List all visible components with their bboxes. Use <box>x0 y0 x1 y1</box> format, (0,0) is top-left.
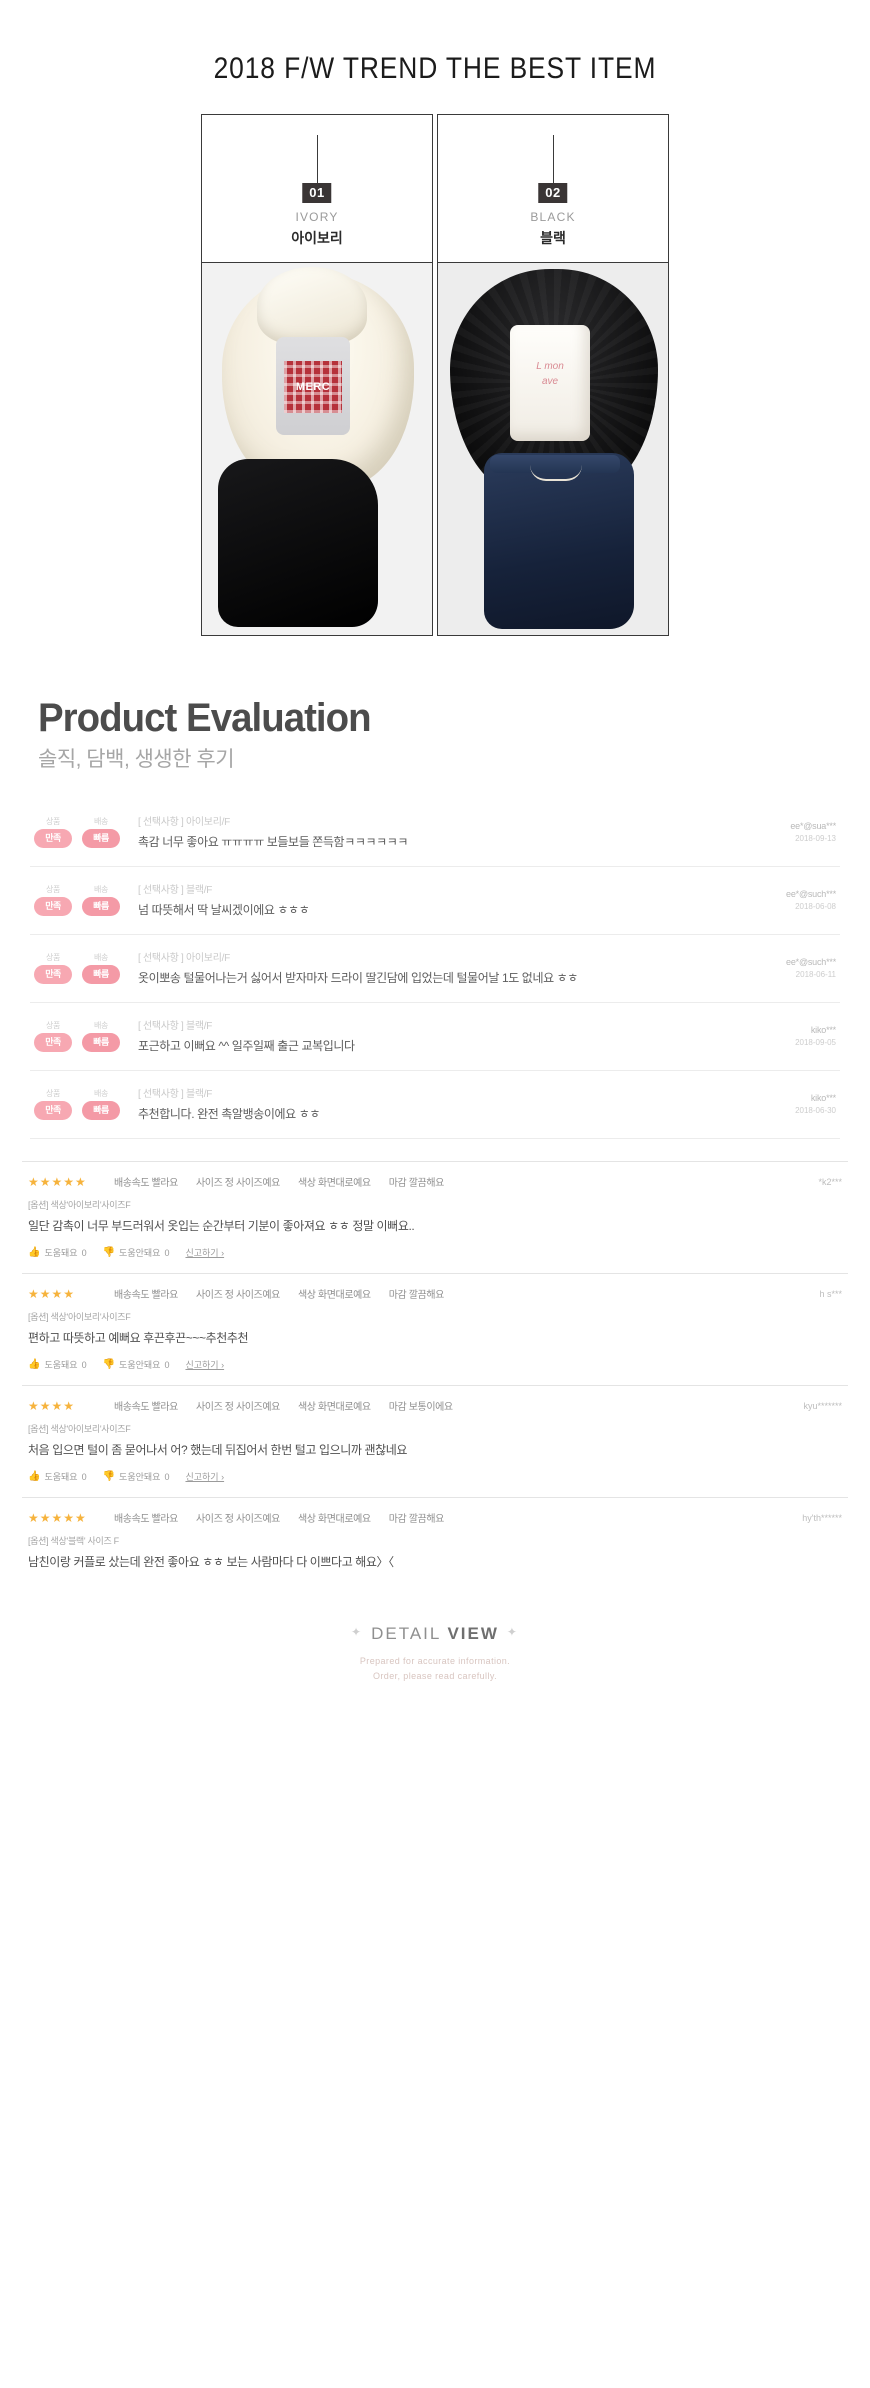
review-header: ★★★★ 배송속도 빨라요 사이즈 정 사이즈예요 색상 화면대로예요 마감 보… <box>28 1398 842 1413</box>
helpful-button[interactable]: 👍 도움돼요 0 <box>28 1246 87 1259</box>
swatch-name-ko: 블랙 <box>438 228 668 248</box>
swatch-header-ivory: 01 IVORY 아이보리 <box>202 115 432 263</box>
simple-review-list: 상품 만족 배송 빠름 [ 선택사항 ] 아이보리/F 촉감 너무 좋아요 ㅠㅠ… <box>30 799 840 1139</box>
score-product: 상품 만족 <box>34 816 72 848</box>
status-badge: 만족 <box>34 897 72 916</box>
review-author: ee*@such*** <box>726 957 836 967</box>
review-actions: 👍 도움돼요 0 👎 도움안돼요 0 신고하기 › <box>28 1358 842 1379</box>
score-product: 상품 만족 <box>34 1020 72 1052</box>
helpful-button[interactable]: 👍 도움돼요 0 <box>28 1358 87 1371</box>
review-tag: 마감 깔끔해요 <box>389 1510 444 1525</box>
review-header: ★★★★★ 배송속도 빨라요 사이즈 정 사이즈예요 색상 화면대로예요 마감 … <box>28 1510 842 1525</box>
review-body: [ 선택사항 ] 아이보리/F 촉감 너무 좋아요 ㅠㅠㅠㅠ 보들보들 쫀득함ㅋ… <box>126 813 726 850</box>
score-caption: 상품 <box>34 816 72 827</box>
review-header: ★★★★ 배송속도 빨라요 사이즈 정 사이즈예요 색상 화면대로예요 마감 깔… <box>28 1286 842 1301</box>
detail-view-subtitle: Prepared for accurate information. Order… <box>0 1654 870 1685</box>
plaid-text: MERC <box>284 381 342 393</box>
score-caption: 상품 <box>34 1088 72 1099</box>
review-author: ee*@such*** <box>726 889 836 899</box>
drawstring-icon <box>530 465 582 481</box>
status-badge: 만족 <box>34 1033 72 1052</box>
review-tag: 배송속도 빨라요 <box>114 1398 178 1413</box>
not-helpful-button[interactable]: 👎 도움안돼요 0 <box>103 1358 170 1371</box>
score-group: 상품 만족 배송 빠름 <box>34 884 126 916</box>
review-option: [옵션] 색상'블랙' 사이즈 F <box>28 1534 842 1547</box>
review-author: kiko*** <box>726 1093 836 1103</box>
score-delivery: 배송 빠름 <box>82 1020 120 1052</box>
not-helpful-label: 도움안돼요 <box>119 1246 160 1259</box>
sparkle-icon-left: ✦ <box>343 1625 371 1639</box>
list-item[interactable]: 상품 만족 배송 빠름 [ 선택사항 ] 아이보리/F 옷이뽀송 털물어나는거 … <box>30 935 840 1003</box>
thumbs-down-icon: 👎 <box>103 1247 115 1258</box>
review-author-block: kiko*** 2018-09-05 <box>726 1025 836 1047</box>
black-pants-shape <box>218 459 378 627</box>
score-group: 상품 만족 배송 빠름 <box>34 952 126 984</box>
tick-line-icon <box>317 135 318 183</box>
review-body: [ 선택사항 ] 블랙/F 넘 따뜻해서 딱 날씨겠이에요 ㅎㅎㅎ <box>126 881 726 918</box>
review-text: 옷이뽀송 털물어나는거 싫어서 받자마자 드라이 딸긴담에 입었는데 털물어날 … <box>138 969 726 986</box>
star-rating: ★★★★ <box>28 1287 100 1301</box>
review-tag: 사이즈 정 사이즈예요 <box>196 1286 280 1301</box>
review-body: [ 선택사항 ] 블랙/F 추천합니다. 완전 촉알뱅송이에요 ㅎㅎ <box>126 1085 726 1122</box>
evaluation-subtitle: 솔직, 담백, 생생한 후기 <box>38 743 870 773</box>
tick-line-icon <box>553 135 554 183</box>
review-text: 남친이랑 커플로 샀는데 완전 좋아요 ㅎㅎ 보는 사람마다 다 이쁘다고 해요… <box>28 1553 842 1570</box>
review-tag: 색상 화면대로예요 <box>298 1174 371 1189</box>
report-link[interactable]: 신고하기 › <box>185 1470 224 1483</box>
helpful-button[interactable]: 👍 도움돼요 0 <box>28 1470 87 1483</box>
table-row[interactable]: ★★★★★ 배송속도 빨라요 사이즈 정 사이즈예요 색상 화면대로예요 마감 … <box>22 1161 848 1273</box>
swatch-number-badge: 01 <box>302 183 331 203</box>
table-row[interactable]: ★★★★ 배송속도 빨라요 사이즈 정 사이즈예요 색상 화면대로예요 마감 깔… <box>22 1273 848 1385</box>
score-product: 상품 만족 <box>34 952 72 984</box>
review-date: 2018-09-05 <box>726 1038 836 1047</box>
helpful-label: 도움돼요 <box>44 1246 77 1259</box>
score-caption: 상품 <box>34 884 72 895</box>
helpful-count: 0 <box>82 1472 87 1482</box>
table-row[interactable]: ★★★★ 배송속도 빨라요 사이즈 정 사이즈예요 색상 화면대로예요 마감 보… <box>22 1385 848 1497</box>
detailed-review-list: ★★★★★ 배송속도 빨라요 사이즈 정 사이즈예요 색상 화면대로예요 마감 … <box>22 1161 848 1576</box>
review-tag-group: 배송속도 빨라요 사이즈 정 사이즈예요 색상 화면대로예요 마감 깔끔해요 <box>100 1174 712 1189</box>
review-date: 2018-06-30 <box>726 1106 836 1115</box>
review-header: ★★★★★ 배송속도 빨라요 사이즈 정 사이즈예요 색상 화면대로예요 마감 … <box>28 1174 842 1189</box>
not-helpful-count: 0 <box>164 1248 169 1258</box>
score-product: 상품 만족 <box>34 1088 72 1120</box>
review-date: 2018-09-13 <box>726 834 836 843</box>
hero-section: 2018 F/W TREND THE BEST ITEM 01 IVORY 아이… <box>0 0 870 636</box>
review-text: 추천합니다. 완전 촉알뱅송이에요 ㅎㅎ <box>138 1105 726 1122</box>
score-caption: 상품 <box>34 1020 72 1031</box>
list-item[interactable]: 상품 만족 배송 빠름 [ 선택사항 ] 아이보리/F 촉감 너무 좋아요 ㅠㅠ… <box>30 799 840 867</box>
review-author: h s*** <box>712 1289 842 1299</box>
not-helpful-count: 0 <box>164 1360 169 1370</box>
score-caption: 상품 <box>34 952 72 963</box>
review-tag: 마감 보통이에요 <box>389 1398 453 1413</box>
score-caption: 배송 <box>82 816 120 827</box>
thumbs-up-icon: 👍 <box>28 1471 40 1482</box>
review-tag: 색상 화면대로예요 <box>298 1510 371 1525</box>
review-option: [ 선택사항 ] 블랙/F <box>138 881 726 896</box>
status-badge: 만족 <box>34 965 72 984</box>
review-option: [ 선택사항 ] 블랙/F <box>138 1017 726 1032</box>
review-tag-group: 배송속도 빨라요 사이즈 정 사이즈예요 색상 화면대로예요 마감 깔끔해요 <box>100 1286 712 1301</box>
thumbs-up-icon: 👍 <box>28 1359 40 1370</box>
review-author: ee*@sua*** <box>726 821 836 831</box>
score-delivery: 배송 빠름 <box>82 884 120 916</box>
evaluation-title: Product Evaluation <box>38 696 837 741</box>
helpful-count: 0 <box>82 1248 87 1258</box>
not-helpful-button[interactable]: 👎 도움안돼요 0 <box>103 1246 170 1259</box>
score-product: 상품 만족 <box>34 884 72 916</box>
white-tee-text: L monave <box>510 359 590 389</box>
review-option: [옵션] 색상'아이보리'사이즈F <box>28 1198 842 1211</box>
review-author-block: ee*@such*** 2018-06-08 <box>726 889 836 911</box>
review-tag: 배송속도 빨라요 <box>114 1510 178 1525</box>
page-title: 2018 F/W TREND THE BEST ITEM <box>52 52 818 114</box>
review-tag-group: 배송속도 빨라요 사이즈 정 사이즈예요 색상 화면대로예요 마감 깔끔해요 <box>100 1510 712 1525</box>
review-tag: 배송속도 빨라요 <box>114 1174 178 1189</box>
review-actions: 👍 도움돼요 0 👎 도움안돼요 0 신고하기 › <box>28 1246 842 1267</box>
not-helpful-button[interactable]: 👎 도움안돼요 0 <box>103 1470 170 1483</box>
review-author-block: ee*@sua*** 2018-09-13 <box>726 821 836 843</box>
score-group: 상품 만족 배송 빠름 <box>34 1088 126 1120</box>
detail-view-footer: ✦DETAIL VIEW✦ Prepared for accurate info… <box>0 1624 870 1731</box>
review-text: 포근하고 이뻐요 ^^ 일주일째 출근 교복입니다 <box>138 1037 726 1054</box>
thumbs-down-icon: 👎 <box>103 1359 115 1370</box>
review-author: *k2*** <box>712 1177 842 1187</box>
review-body: [ 선택사항 ] 아이보리/F 옷이뽀송 털물어나는거 싫어서 받자마자 드라이… <box>126 949 726 986</box>
review-text: 넘 따뜻해서 딱 날씨겠이에요 ㅎㅎㅎ <box>138 901 726 918</box>
product-photo-black: L monave <box>438 263 668 635</box>
review-tag: 사이즈 정 사이즈예요 <box>196 1398 280 1413</box>
report-link[interactable]: 신고하기 › <box>185 1358 224 1371</box>
score-caption: 배송 <box>82 1020 120 1031</box>
status-badge: 빠름 <box>82 1101 120 1120</box>
review-date: 2018-06-11 <box>726 970 836 979</box>
swatch-header-black: 02 BLACK 블랙 <box>438 115 668 263</box>
swatch-name-ko: 아이보리 <box>202 228 432 248</box>
detail-view-sub-line1: Prepared for accurate information. <box>360 1656 510 1666</box>
status-badge: 만족 <box>34 1101 72 1120</box>
swatch-card-ivory[interactable]: 01 IVORY 아이보리 MERC <box>201 114 433 636</box>
review-author: kyu******* <box>712 1401 842 1411</box>
review-author: kiko*** <box>726 1025 836 1035</box>
review-body: [ 선택사항 ] 블랙/F 포근하고 이뻐요 ^^ 일주일째 출근 교복입니다 <box>126 1017 726 1054</box>
status-badge: 만족 <box>34 829 72 848</box>
status-badge: 빠름 <box>82 965 120 984</box>
helpful-label: 도움돼요 <box>44 1358 77 1371</box>
swatch-name-en: BLACK <box>438 210 668 224</box>
detail-view-word-bold: VIEW <box>447 1624 498 1643</box>
score-delivery: 배송 빠름 <box>82 1088 120 1120</box>
review-tag: 사이즈 정 사이즈예요 <box>196 1174 280 1189</box>
evaluation-heading-section: Product Evaluation 솔직, 담백, 생생한 후기 <box>0 636 870 773</box>
color-swatch-row: 01 IVORY 아이보리 MERC 02 BLACK <box>0 114 870 636</box>
star-rating: ★★★★ <box>28 1399 100 1413</box>
sparkle-icon-right: ✦ <box>499 1625 527 1639</box>
list-item[interactable]: 상품 만족 배송 빠름 [ 선택사항 ] 블랙/F 추천합니다. 완전 촉알뱅송… <box>30 1071 840 1139</box>
review-date: 2018-06-08 <box>726 902 836 911</box>
review-author-block: ee*@such*** 2018-06-11 <box>726 957 836 979</box>
swatch-card-black[interactable]: 02 BLACK 블랙 L monave <box>437 114 669 636</box>
review-tag: 사이즈 정 사이즈예요 <box>196 1510 280 1525</box>
report-link[interactable]: 신고하기 › <box>185 1246 224 1259</box>
product-photo-ivory: MERC <box>202 263 432 635</box>
review-text: 일단 감촉이 너무 부드러워서 옷입는 순간부터 기분이 좋아져요 ㅎㅎ 정말 … <box>28 1217 842 1234</box>
review-tag: 색상 화면대로예요 <box>298 1286 371 1301</box>
swatch-number-badge: 02 <box>538 183 567 203</box>
review-author: hy'th****** <box>712 1513 842 1523</box>
helpful-count: 0 <box>82 1360 87 1370</box>
review-tag: 마감 깔끔해요 <box>389 1286 444 1301</box>
score-delivery: 배송 빠름 <box>82 952 120 984</box>
review-option: [옵션] 색상'아이보리'사이즈F <box>28 1422 842 1435</box>
review-tag: 색상 화면대로예요 <box>298 1398 371 1413</box>
score-caption: 배송 <box>82 1088 120 1099</box>
swatch-name-en: IVORY <box>202 210 432 224</box>
score-delivery: 배송 빠름 <box>82 816 120 848</box>
score-group: 상품 만족 배송 빠름 <box>34 816 126 848</box>
status-badge: 빠름 <box>82 1033 120 1052</box>
review-actions: 👍 도움돼요 0 👎 도움안돼요 0 신고하기 › <box>28 1470 842 1491</box>
status-badge: 빠름 <box>82 897 120 916</box>
review-tag: 마감 깔끔해요 <box>389 1174 444 1189</box>
status-badge: 빠름 <box>82 829 120 848</box>
product-detail-page: 2018 F/W TREND THE BEST ITEM 01 IVORY 아이… <box>0 0 870 1731</box>
score-group: 상품 만족 배송 빠름 <box>34 1020 126 1052</box>
review-option: [ 선택사항 ] 아이보리/F <box>138 813 726 828</box>
not-helpful-label: 도움안돼요 <box>119 1470 160 1483</box>
helpful-label: 도움돼요 <box>44 1470 77 1483</box>
review-option: [ 선택사항 ] 블랙/F <box>138 1085 726 1100</box>
review-text: 편하고 따뜻하고 예뻐요 후끈후끈~~~추천추천 <box>28 1329 842 1346</box>
score-caption: 배송 <box>82 884 120 895</box>
detail-view-word-light: DETAIL <box>371 1624 441 1643</box>
review-tag-group: 배송속도 빨라요 사이즈 정 사이즈예요 색상 화면대로예요 마감 보통이에요 <box>100 1398 712 1413</box>
thumbs-down-icon: 👎 <box>103 1471 115 1482</box>
review-tag: 배송속도 빨라요 <box>114 1286 178 1301</box>
not-helpful-label: 도움안돼요 <box>119 1358 160 1371</box>
review-text: 처음 입으면 털이 좀 묻어나서 어? 했는데 뒤집어서 한번 털고 입으니까 … <box>28 1441 842 1458</box>
ivory-hood-shape <box>257 267 367 345</box>
list-item[interactable]: 상품 만족 배송 빠름 [ 선택사항 ] 블랙/F 포근하고 이뻐요 ^^ 일주… <box>30 1003 840 1071</box>
thumbs-up-icon: 👍 <box>28 1247 40 1258</box>
review-text: 촉감 너무 좋아요 ㅠㅠㅠㅠ 보들보들 쫀득함ㅋㅋㅋㅋㅋㅋ <box>138 833 726 850</box>
score-caption: 배송 <box>82 952 120 963</box>
table-row[interactable]: ★★★★★ 배송속도 빨라요 사이즈 정 사이즈예요 색상 화면대로예요 마감 … <box>22 1497 848 1576</box>
star-rating: ★★★★★ <box>28 1511 100 1525</box>
not-helpful-count: 0 <box>164 1472 169 1482</box>
star-rating: ★★★★★ <box>28 1175 100 1189</box>
review-author-block: kiko*** 2018-06-30 <box>726 1093 836 1115</box>
detail-view-sub-line2: Order, please read carefully. <box>373 1671 497 1681</box>
review-option: [ 선택사항 ] 아이보리/F <box>138 949 726 964</box>
list-item[interactable]: 상품 만족 배송 빠름 [ 선택사항 ] 블랙/F 넘 따뜻해서 딱 날씨겠이에… <box>30 867 840 935</box>
review-option: [옵션] 색상'아이보리'사이즈F <box>28 1310 842 1323</box>
detail-view-title: ✦DETAIL VIEW✦ <box>0 1624 870 1644</box>
